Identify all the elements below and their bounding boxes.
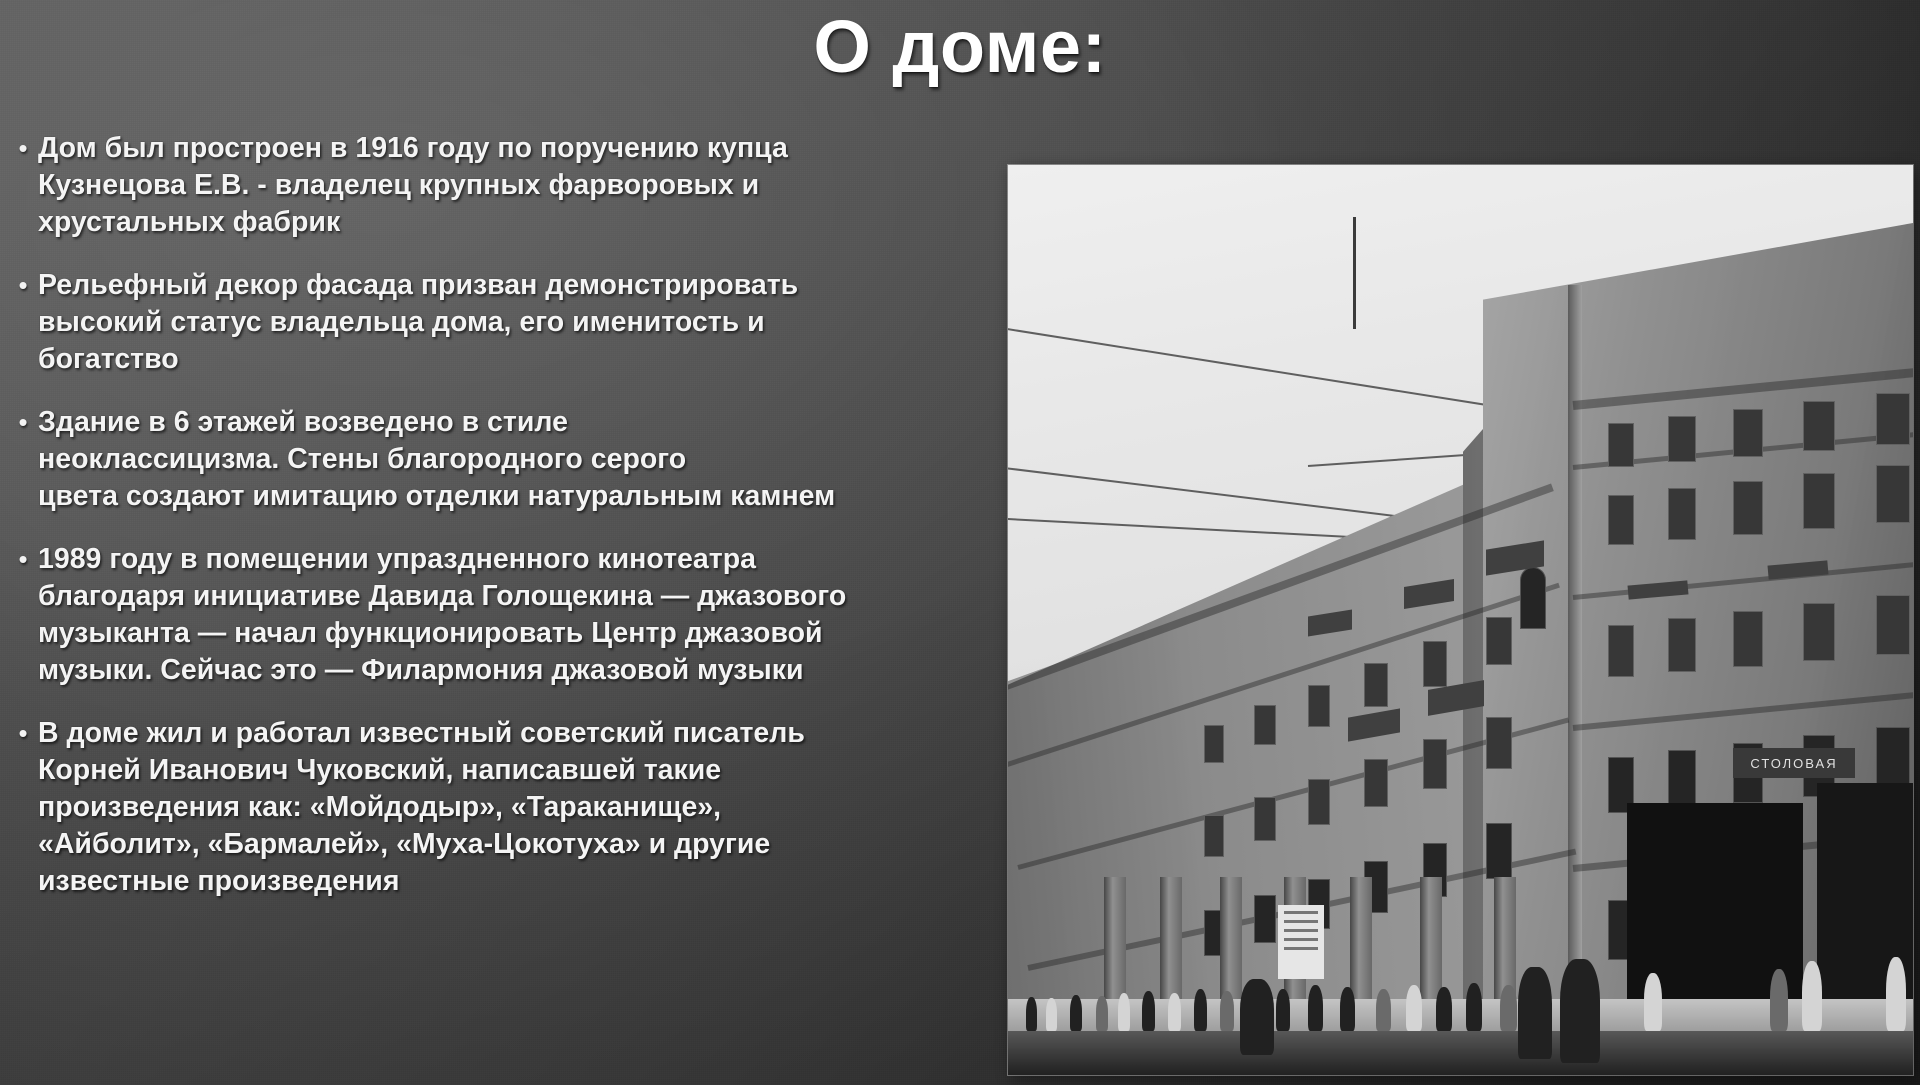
- bullet-point-icon: •: [8, 715, 38, 752]
- pedestrian: [1886, 957, 1906, 1031]
- pedestrian: [1308, 985, 1323, 1031]
- window: [1486, 717, 1512, 769]
- window: [1608, 495, 1634, 545]
- window: [1254, 895, 1276, 943]
- pedestrian: [1276, 989, 1290, 1031]
- shop-sign-label: СТОЛОВАЯ: [1750, 756, 1837, 771]
- bullet-point-icon: •: [8, 541, 38, 578]
- page-title: О доме:: [0, 6, 1920, 87]
- window: [1668, 750, 1696, 808]
- window: [1254, 705, 1276, 745]
- notice-board: [1278, 905, 1324, 979]
- slide-root: О доме: • Дом был простроен в 1916 году …: [0, 0, 1920, 1085]
- window: [1364, 663, 1388, 707]
- roof-pole: [1353, 217, 1356, 329]
- pedestrian: [1406, 985, 1422, 1031]
- pedestrian: [1518, 967, 1552, 1059]
- window: [1803, 473, 1835, 529]
- window: [1876, 595, 1910, 655]
- pedestrian: [1466, 983, 1482, 1031]
- window: [1486, 617, 1512, 665]
- bullet-text: Рельефный декор фасада призван демонстри…: [38, 267, 853, 378]
- window: [1608, 423, 1634, 467]
- pedestrian: [1142, 991, 1155, 1031]
- window: [1876, 393, 1910, 445]
- window: [1204, 725, 1224, 763]
- pedestrian: [1340, 987, 1355, 1031]
- pedestrian: [1436, 987, 1452, 1031]
- window: [1423, 641, 1447, 687]
- pedestrian: [1220, 991, 1234, 1031]
- list-item: • В доме жил и работал известный советск…: [8, 715, 853, 900]
- pedestrian: [1096, 996, 1108, 1031]
- window: [1876, 465, 1910, 523]
- pedestrian: [1560, 959, 1600, 1063]
- window: [1733, 481, 1763, 535]
- pedestrian: [1070, 995, 1082, 1031]
- window: [1308, 685, 1330, 727]
- pedestrian: [1770, 969, 1788, 1031]
- list-item: • Здание в 6 этажей возведено в стиле не…: [8, 404, 853, 515]
- window: [1668, 488, 1696, 540]
- window: [1668, 416, 1696, 462]
- bullet-text: Дом был простроен в 1916 году по поручен…: [38, 130, 853, 241]
- window: [1486, 823, 1512, 879]
- photo-canvas: СТОЛОВАЯ: [1008, 165, 1913, 1075]
- window: [1803, 401, 1835, 451]
- pedestrian: [1194, 989, 1207, 1031]
- pedestrian: [1376, 989, 1391, 1031]
- arched-niche: [1520, 567, 1546, 629]
- bullet-text: Здание в 6 этажей возведено в стиле неок…: [38, 404, 853, 515]
- pedestrian: [1240, 979, 1274, 1055]
- pedestrian: [1026, 997, 1037, 1031]
- window: [1733, 611, 1763, 667]
- road: [1008, 1031, 1913, 1075]
- bullet-list: • Дом был простроен в 1916 году по поруч…: [8, 130, 853, 900]
- bullet-text: 1989 году в помещении упраздненного кино…: [38, 541, 853, 689]
- window: [1204, 815, 1224, 857]
- window: [1423, 739, 1447, 789]
- pedestrian: [1802, 961, 1822, 1031]
- pedestrian: [1168, 993, 1181, 1031]
- window: [1803, 603, 1835, 661]
- bullet-text: В доме жил и работал известный советский…: [38, 715, 853, 900]
- historic-building-photo: СТОЛОВАЯ: [1008, 165, 1913, 1075]
- pedestrian: [1644, 973, 1662, 1031]
- list-item: • 1989 году в помещении упраздненного ки…: [8, 541, 853, 689]
- list-item: • Дом был простроен в 1916 году по поруч…: [8, 130, 853, 241]
- pedestrian: [1500, 985, 1517, 1031]
- shop-sign: СТОЛОВАЯ: [1733, 748, 1855, 778]
- window: [1876, 727, 1910, 791]
- list-item: • Рельефный декор фасада призван демонст…: [8, 267, 853, 378]
- window: [1254, 797, 1276, 841]
- pedestrian: [1046, 998, 1057, 1031]
- window: [1364, 759, 1388, 807]
- bullet-point-icon: •: [8, 404, 38, 441]
- bullet-point-icon: •: [8, 130, 38, 167]
- window: [1668, 618, 1696, 672]
- window: [1308, 779, 1330, 825]
- window: [1608, 625, 1634, 677]
- bullet-point-icon: •: [8, 267, 38, 304]
- window: [1733, 409, 1763, 457]
- pedestrian: [1118, 993, 1130, 1031]
